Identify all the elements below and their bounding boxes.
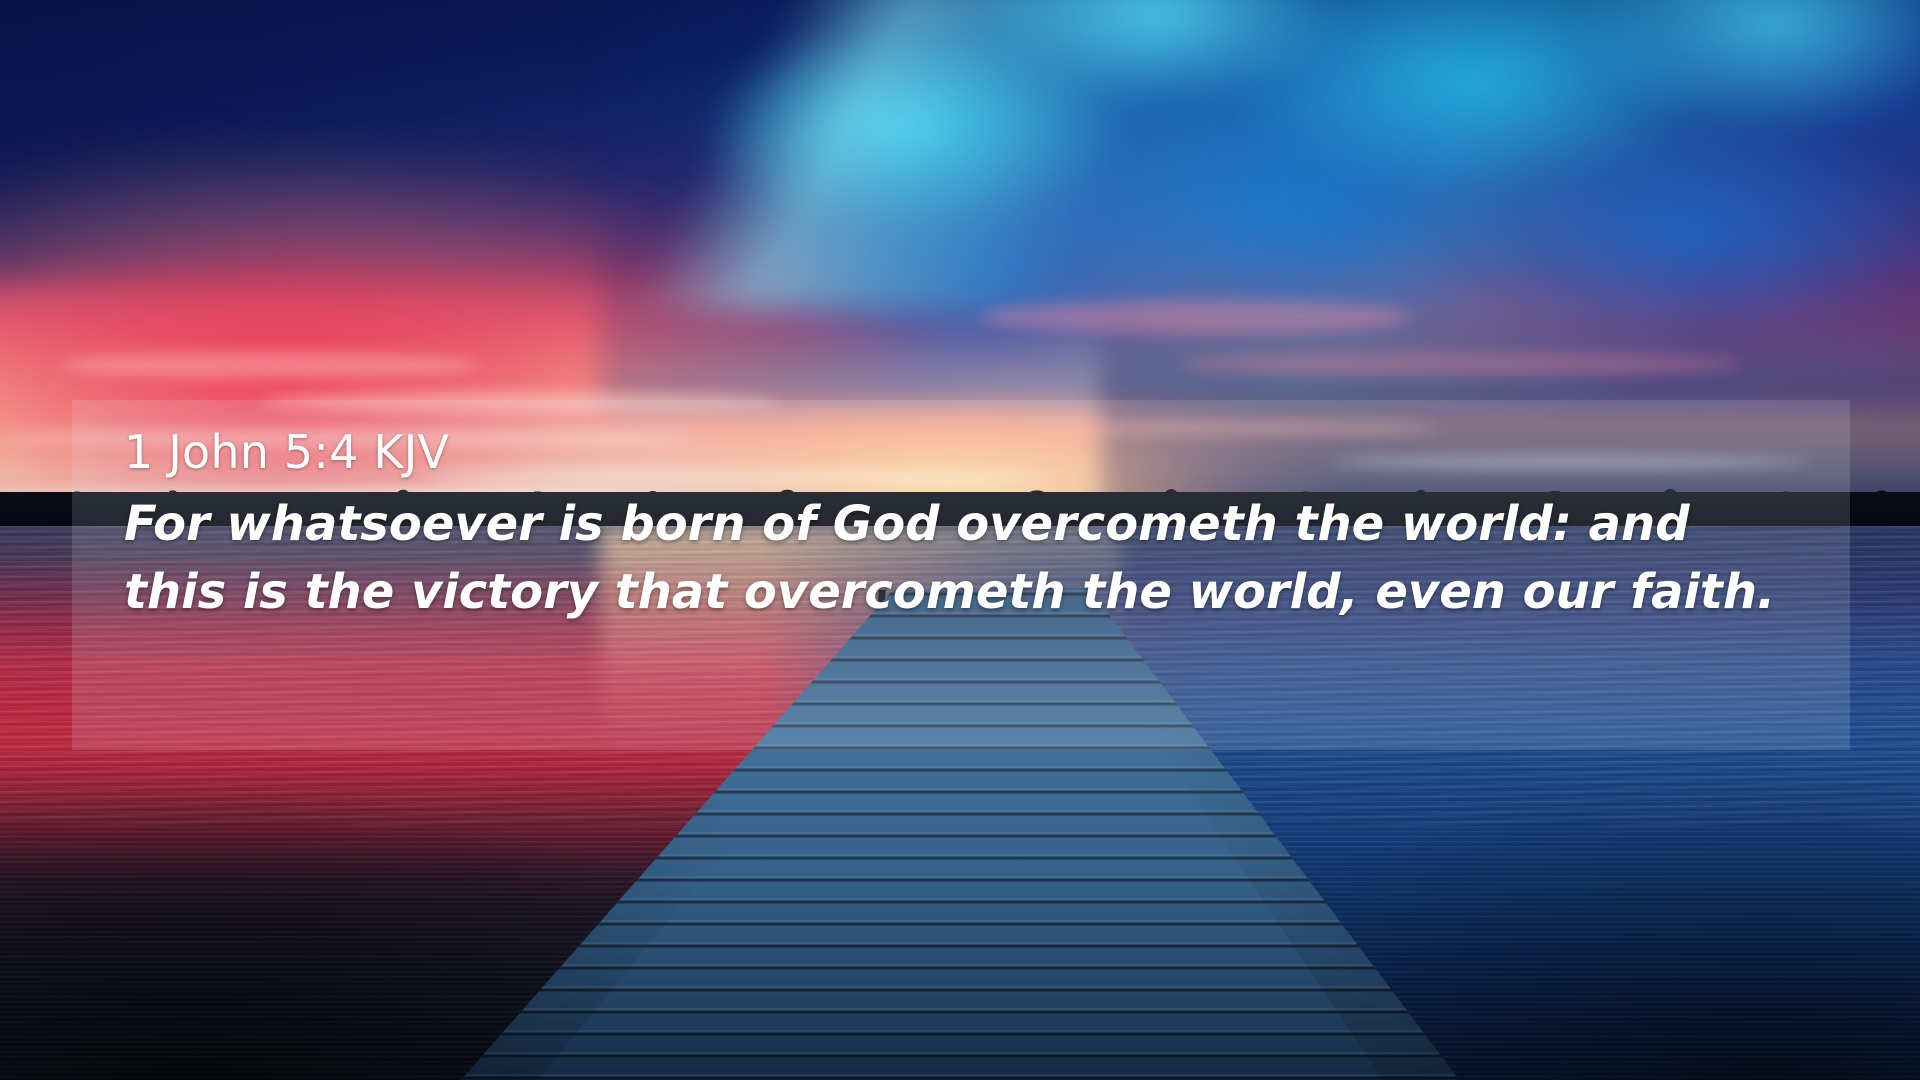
cloud-wisp [980,300,1410,334]
verse-wallpaper: 1 John 5:4 KJV For whatsoever is born of… [0,0,1920,1080]
cloud-wisp [60,352,480,378]
cloud-bright-edge [620,0,1920,310]
verse-overlay-panel: 1 John 5:4 KJV For whatsoever is born of… [72,400,1850,750]
verse-reference: 1 John 5:4 KJV [124,428,1798,476]
verse-text: For whatsoever is born of God overcometh… [124,490,1784,626]
cloud-wisp [1180,352,1740,376]
